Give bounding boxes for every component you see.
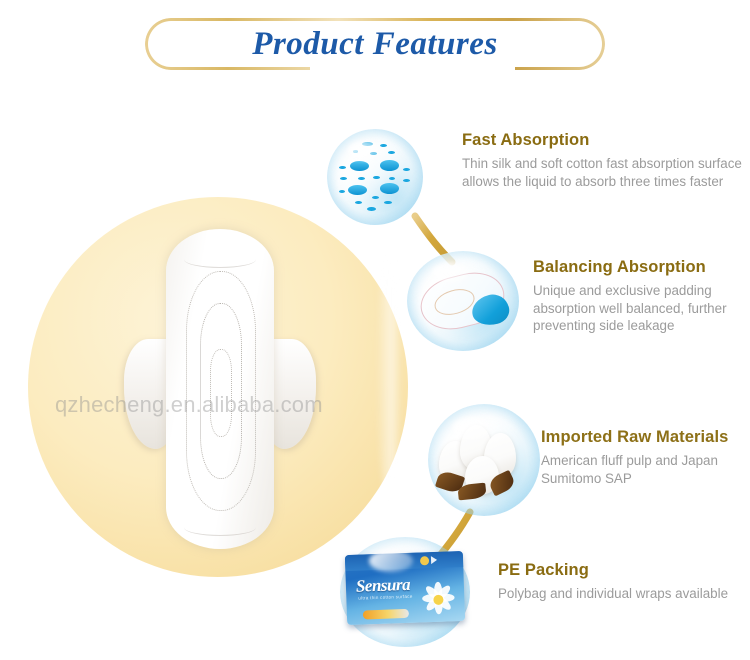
product-package-icon: Sensura ultra thin cotton surface — [340, 537, 470, 647]
package-subtitle: ultra thin cotton surface — [358, 594, 412, 601]
alibaba-watermark: qzhecheng.en.alibaba.com — [55, 392, 365, 418]
feature-description: American fluff pulp and Japan Sumitomo S… — [541, 452, 750, 487]
bubble-highlight — [432, 263, 470, 283]
feature-title: Imported Raw Materials — [541, 428, 750, 447]
feature-description: Polybag and individual wraps available — [498, 585, 750, 603]
page-title-banner: Product Features — [145, 18, 605, 70]
feature-title: Fast Absorption — [462, 131, 747, 150]
mini-pad-graphic — [420, 275, 505, 327]
package-badge — [363, 609, 409, 620]
feature-fast-absorption: Fast Absorption Thin silk and soft cotto… — [462, 131, 747, 190]
cotton-boll-icon — [428, 404, 540, 516]
package-arrow-icon — [431, 556, 437, 564]
bubble-highlight — [348, 141, 381, 160]
daisy-flower-icon — [418, 579, 459, 620]
pad-liquid-absorption-icon — [407, 251, 519, 351]
feature-description: Thin silk and soft cotton fast absorptio… — [462, 155, 747, 190]
feature-imported-raw-materials: Imported Raw Materials American fluff pu… — [541, 428, 750, 487]
feature-description: Unique and exclusive padding absorption … — [533, 282, 750, 335]
feature-title: PE Packing — [498, 561, 750, 580]
page-title: Product Features — [145, 18, 605, 70]
feature-pe-packing: PE Packing Polybag and individual wraps … — [498, 561, 750, 603]
feature-balancing-absorption: Balancing Absorption Unique and exclusiv… — [533, 258, 750, 335]
sanitary-pad-illustration — [124, 229, 316, 549]
pad-seam-bottom — [184, 519, 256, 536]
feature-title: Balancing Absorption — [533, 258, 750, 277]
bubble-highlight — [453, 417, 491, 439]
perforated-topsheet-icon — [327, 129, 423, 225]
product-photo — [28, 197, 408, 577]
bubble-highlight — [369, 550, 413, 572]
pad-seam-top — [184, 251, 256, 268]
